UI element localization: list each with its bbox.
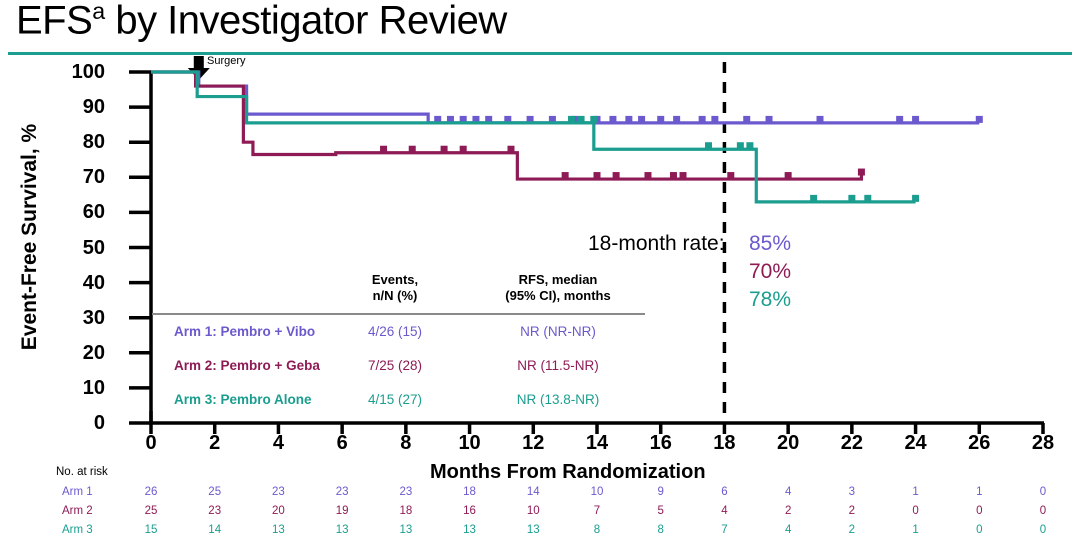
censor-mark-arm2 [441,146,448,153]
risk-value-arm3-t28: 0 [1026,524,1060,536]
censor-mark-arm1 [711,116,718,123]
risk-value-arm1-t0: 26 [134,486,168,498]
risk-value-arm2-t18: 4 [707,505,741,517]
risk-value-arm1-t28: 0 [1026,486,1060,498]
censor-mark-arm2 [613,172,620,179]
risk-value-arm1-t24: 1 [899,486,933,498]
risk-value-arm3-t10: 13 [453,524,487,536]
legend-header-events-line2: n/N (%) [373,288,418,303]
risk-value-arm3-t26: 0 [962,524,996,536]
risk-value-arm2-t0: 25 [134,505,168,517]
risk-value-arm3-t6: 13 [325,524,359,536]
rate-value-arm1: 85% [749,232,791,256]
censor-mark-arm3 [746,142,753,149]
censor-mark-arm2 [460,146,467,153]
risk-value-arm2-t2: 23 [198,505,232,517]
censor-mark-arm2 [785,172,792,179]
risk-value-arm3-t4: 13 [261,524,295,536]
risk-value-arm1-t4: 23 [261,486,295,498]
legend-arm-label-2: Arm 2: Pembro + Geba [174,358,320,373]
curve-arm1 [151,72,979,123]
slide-root: EFSa by Investigator Review Event-Free S… [0,0,1080,544]
censor-mark-arm1 [896,116,903,123]
legend-rfs-2: NR (11.5-NR) [468,358,648,373]
risk-value-arm2-t6: 19 [325,505,359,517]
censor-mark-arm3 [705,142,712,149]
legend-events-2: 7/25 (28) [335,358,455,373]
risk-value-arm2-t14: 7 [580,505,614,517]
risk-value-arm1-t10: 18 [453,486,487,498]
risk-value-arm1-t6: 23 [325,486,359,498]
legend-header-rfs-line1: RFS, median [519,272,598,287]
censor-mark-arm1 [817,116,824,123]
censor-mark-arm1 [976,116,983,123]
risk-row-label-3: Arm 3 [62,524,93,536]
risk-value-arm2-t10: 16 [453,505,487,517]
censor-mark-arm2 [727,172,734,179]
risk-value-arm2-t12: 10 [516,505,550,517]
censor-mark-arm1 [625,116,632,123]
risk-value-arm1-t8: 23 [389,486,423,498]
legend-header-events-line1: Events, [372,272,418,287]
legend-divider [152,313,645,315]
risk-value-arm3-t2: 14 [198,524,232,536]
risk-value-arm2-t4: 20 [261,505,295,517]
risk-row-label-1: Arm 1 [62,486,93,498]
risk-value-arm3-t8: 13 [389,524,423,536]
censor-mark-arm2 [858,169,865,176]
censor-mark-arm2 [380,146,387,153]
risk-value-arm2-t8: 18 [389,505,423,517]
risk-row-label-2: Arm 2 [62,505,93,517]
censor-mark-arm2 [409,146,416,153]
censor-mark-arm3 [737,142,744,149]
censor-mark-arm2 [594,172,601,179]
risk-value-arm2-t22: 2 [835,505,869,517]
censor-mark-arm2 [680,172,687,179]
risk-value-arm3-t22: 2 [835,524,869,536]
risk-value-arm1-t26: 1 [962,486,996,498]
risk-value-arm3-t20: 4 [771,524,805,536]
risk-table-title: No. at risk [56,466,108,478]
legend-rfs-1: NR (NR-NR) [468,324,648,339]
censor-mark-arm1 [912,116,919,123]
risk-value-arm2-t20: 2 [771,505,805,517]
risk-value-arm1-t12: 14 [516,486,550,498]
censor-mark-arm1 [743,116,750,123]
risk-value-arm3-t12: 13 [516,524,550,536]
risk-value-arm3-t14: 8 [580,524,614,536]
censor-mark-arm3 [912,195,919,202]
risk-value-arm1-t14: 10 [580,486,614,498]
legend-events-1: 4/26 (15) [335,324,455,339]
censor-mark-arm1 [699,116,706,123]
curve-arm3 [151,72,916,202]
censor-mark-arm1 [657,116,664,123]
legend-rfs-3: NR (13.8-NR) [468,392,648,407]
risk-value-arm1-t20: 4 [771,486,805,498]
rate-value-arm3: 78% [749,288,791,312]
surgery-marker-label: Surgery [207,55,246,67]
censor-mark-arm2 [507,146,514,153]
risk-value-arm2-t16: 5 [644,505,678,517]
censor-mark-arm3 [848,195,855,202]
censor-mark-arm1 [638,116,645,123]
censor-mark-arm1 [673,116,680,123]
censor-mark-arm3 [568,116,575,123]
censor-mark-arm2 [670,172,677,179]
censor-mark-arm1 [766,116,773,123]
risk-value-arm1-t22: 3 [835,486,869,498]
censor-mark-arm3 [578,116,585,123]
risk-value-arm3-t18: 7 [707,524,741,536]
risk-value-arm3-t16: 8 [644,524,678,536]
risk-value-arm3-t24: 1 [899,524,933,536]
risk-value-arm1-t2: 25 [198,486,232,498]
risk-value-arm2-t28: 0 [1026,505,1060,517]
risk-value-arm1-t18: 6 [707,486,741,498]
censor-mark-arm3 [590,116,597,123]
eighteen-month-rate-label: 18-month rate: [588,232,725,256]
legend-arm-label-3: Arm 3: Pembro Alone [174,392,312,407]
risk-value-arm1-t16: 9 [644,486,678,498]
censor-mark-arm1 [609,116,616,123]
legend-header-rfs-line2: (95% CI), months [505,288,610,303]
censor-mark-arm2 [644,172,651,179]
risk-value-arm2-t26: 0 [962,505,996,517]
risk-value-arm2-t24: 0 [899,505,933,517]
legend-arm-label-1: Arm 1: Pembro + Vibo [174,324,315,339]
legend-header-rfs: RFS, median (95% CI), months [468,272,648,305]
censor-mark-arm3 [810,195,817,202]
risk-value-arm3-t0: 15 [134,524,168,536]
rate-value-arm2: 70% [749,260,791,284]
legend-header-events: Events, n/N (%) [335,272,455,305]
legend-events-3: 4/15 (27) [335,392,455,407]
censor-mark-arm3 [864,195,871,202]
censor-mark-arm2 [562,172,569,179]
